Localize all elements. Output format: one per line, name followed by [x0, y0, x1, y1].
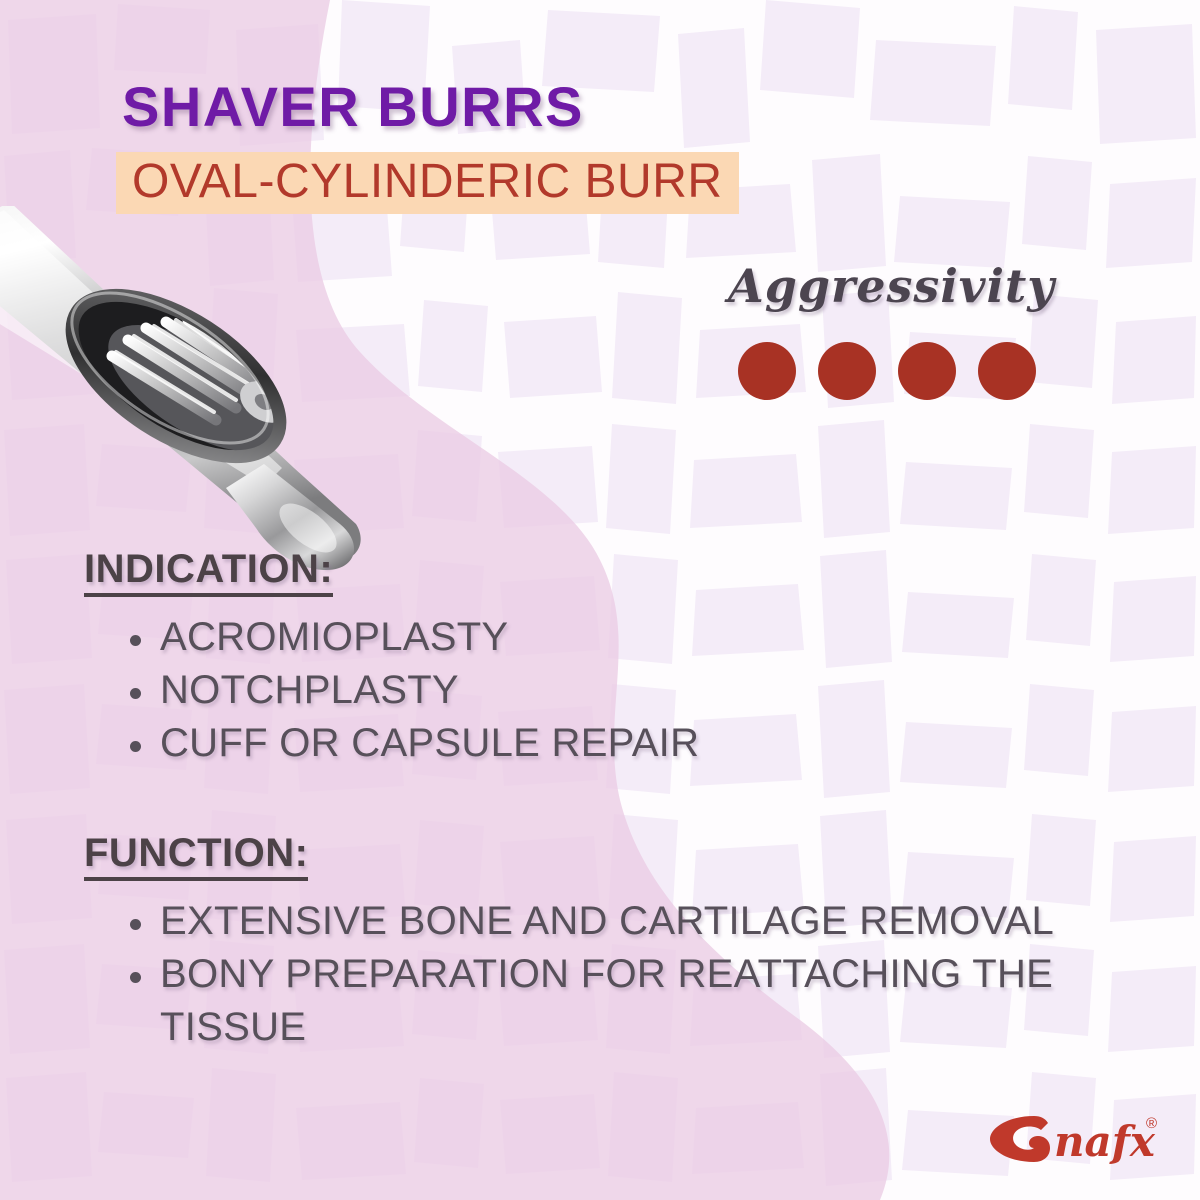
list-item: BONY PREPARATION FOR REATTACHING THE TIS…	[128, 948, 1084, 1054]
function-section: FUNCTION: EXTENSIVE BONE AND CARTILAGE R…	[84, 832, 1084, 1053]
indication-list: ACROMIOPLASTY NOTCHPLASTY CUFF OR CAPSUL…	[84, 611, 1084, 769]
list-item: NOTCHPLASTY	[128, 664, 1084, 717]
logo-wordmark: nafx	[1054, 1117, 1156, 1166]
page-subtitle: OVAL-CYLINDERIC BURR	[132, 158, 723, 206]
poster-canvas: SHAVER BURRS OVAL-CYLINDERIC BURR Aggres…	[0, 0, 1200, 1200]
aggressivity-dot-1	[738, 342, 796, 400]
function-heading: FUNCTION:	[84, 832, 308, 881]
indication-heading: INDICATION:	[84, 548, 333, 597]
list-item: CUFF OR CAPSULE REPAIR	[128, 717, 1084, 770]
list-item: EXTENSIVE BONE AND CARTILAGE REMOVAL	[128, 895, 1084, 948]
logo-registered-mark: ®	[1146, 1115, 1157, 1132]
function-list: EXTENSIVE BONE AND CARTILAGE REMOVAL BON…	[84, 895, 1084, 1053]
list-item: ACROMIOPLASTY	[128, 611, 1084, 664]
aggressivity-label: Aggressivity	[728, 262, 1068, 310]
nafx-logo: nafx ®	[988, 1104, 1168, 1174]
product-photo-shaver-burr	[0, 206, 434, 586]
aggressivity-dot-4	[978, 342, 1036, 400]
page-title: SHAVER BURRS	[122, 74, 584, 139]
aggressivity-block: Aggressivity	[728, 262, 1068, 400]
aggressivity-dot-2	[818, 342, 876, 400]
aggressivity-rating	[738, 342, 1068, 400]
subtitle-highlight-band: OVAL-CYLINDERIC BURR	[116, 152, 739, 214]
indication-section: INDICATION: ACROMIOPLASTY NOTCHPLASTY CU…	[84, 548, 1084, 769]
aggressivity-dot-3	[898, 342, 956, 400]
